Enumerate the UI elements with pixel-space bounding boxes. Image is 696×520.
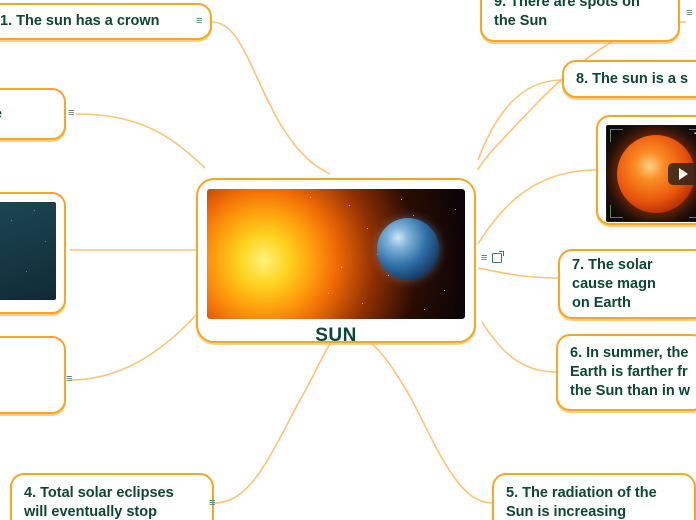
node-9[interactable]: 9. There are spots on the Sun — [480, 0, 680, 42]
connector-to-node-8 — [478, 80, 562, 160]
central-node[interactable]: SUN — [196, 178, 476, 343]
connector-to-node-7 — [478, 268, 558, 278]
central-node-image — [207, 189, 465, 319]
node-7[interactable]: 7. The solar cause magn on Earth — [558, 249, 696, 319]
node-6[interactable]: 6. In summer, the Earth is farther fr th… — [556, 334, 696, 411]
node-6-line-3: the Sun than in w — [570, 382, 692, 401]
node-4-line-2: will eventually stop — [24, 503, 200, 520]
hamburger-icon[interactable]: ≡ — [196, 16, 202, 27]
node-3[interactable]: the n a — [0, 336, 66, 414]
node-8-label: 8. The sun is a s — [576, 70, 688, 89]
poster-node[interactable]: КТІВ: ЩЕ п — [0, 192, 66, 314]
node-4-line-1: 4. Total solar eclipses — [24, 484, 200, 503]
poster-image: КТІВ: ЩЕ — [0, 202, 56, 300]
node-5-line-2: Sun is increasing — [506, 503, 682, 520]
earth-globe — [377, 218, 439, 280]
node-9-handle[interactable]: ≡ — [686, 8, 692, 19]
node-2[interactable]: ecome — [0, 88, 66, 140]
mindmap-canvas[interactable]: SUN ≡ 1. The sun has a crown ≡ ecome ≡ К… — [0, 0, 696, 520]
connector-to-node-3 — [70, 305, 205, 380]
node-5[interactable]: 5. The radiation of the Sun is increasin… — [492, 473, 696, 520]
node-9-line-1: 9. There are spots on — [494, 0, 666, 12]
central-node-handle[interactable]: ≡ — [481, 253, 502, 264]
connector-to-node-2 — [76, 114, 205, 168]
node-3-handle[interactable]: ≡ — [66, 374, 72, 385]
node-2-handle[interactable]: ≡ — [68, 108, 74, 119]
hamburger-icon[interactable]: ≡ — [686, 8, 692, 19]
node-7-line-3: on Earth — [572, 294, 694, 313]
node-6-line-1: 6. In summer, the — [570, 344, 692, 363]
node-5-line-1: 5. The radiation of the — [506, 484, 682, 503]
node-4[interactable]: 4. Total solar eclipses will eventually … — [10, 473, 214, 520]
node-1[interactable]: 1. The sun has a crown — [0, 3, 212, 40]
connector-to-node-1 — [212, 22, 330, 174]
hamburger-icon[interactable]: ≡ — [209, 498, 215, 509]
frame-corner-icon — [610, 129, 623, 142]
node-8[interactable]: 8. The sun is a s — [562, 60, 696, 98]
video-thumbnail[interactable]: T — [606, 125, 696, 222]
node-9-line-2: the Sun — [494, 12, 666, 31]
frame-corner-icon — [610, 205, 623, 218]
node-1-label: 1. The sun has a crown — [0, 12, 160, 31]
node-3-line-1: the — [0, 356, 52, 375]
hamburger-icon[interactable]: ≡ — [66, 374, 72, 385]
node-1-handle[interactable]: ≡ — [196, 16, 202, 27]
play-icon[interactable] — [668, 163, 696, 185]
node-2-label: ecome — [0, 105, 2, 124]
node-7-line-1: 7. The solar — [572, 256, 694, 275]
hamburger-icon[interactable]: ≡ — [481, 253, 487, 264]
node-3-line-2: n a — [0, 375, 52, 394]
connector-to-video — [478, 170, 596, 244]
node-6-line-2: Earth is farther fr — [570, 363, 692, 382]
central-node-title: SUN — [207, 319, 465, 353]
connector-to-node-4 — [214, 344, 330, 503]
frame-corner-icon — [689, 205, 696, 218]
hamburger-icon[interactable]: ≡ — [68, 108, 74, 119]
poster-caption: п — [0, 300, 56, 322]
connector-to-node-5 — [372, 344, 492, 503]
expand-icon[interactable] — [492, 253, 502, 263]
connector-to-node-6 — [482, 322, 556, 372]
node-7-line-2: cause magn — [572, 275, 694, 294]
node-4-handle[interactable]: ≡ — [209, 498, 215, 509]
video-node[interactable]: T — [596, 115, 696, 225]
